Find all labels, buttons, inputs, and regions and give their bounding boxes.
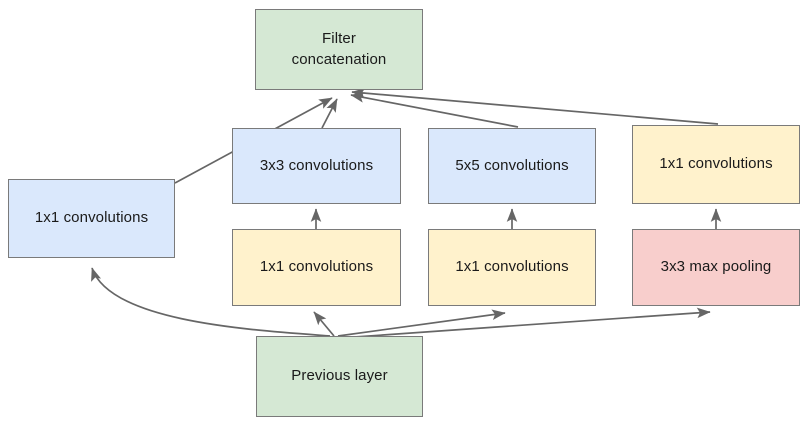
node-label: 1x1 convolutions xyxy=(256,257,377,277)
node-conv-1x1-left[interactable]: 1x1 convolutions xyxy=(8,179,175,258)
node-previous-layer[interactable]: Previous layer xyxy=(256,336,423,417)
node-filter-concatenation[interactable]: Filter concatenation xyxy=(255,9,423,90)
node-label: 3x3 convolutions xyxy=(256,156,377,176)
edge-5x5-to-concat xyxy=(351,95,518,127)
node-label: 3x3 max pooling xyxy=(657,257,776,277)
node-conv-1x1-before-5x5[interactable]: 1x1 convolutions xyxy=(428,229,596,306)
node-label: Filter concatenation xyxy=(288,29,391,70)
node-label: 1x1 convolutions xyxy=(451,257,572,277)
node-conv-5x5[interactable]: 5x5 convolutions xyxy=(428,128,596,204)
edge-previous-to-1x1-before-5x5 xyxy=(338,313,505,336)
node-label: 1x1 convolutions xyxy=(655,154,776,174)
node-conv-1x1-right[interactable]: 1x1 convolutions xyxy=(632,125,800,204)
node-conv-3x3[interactable]: 3x3 convolutions xyxy=(232,128,401,204)
node-label: Previous layer xyxy=(287,366,391,386)
inception-module-diagram: Filter concatenation 1x1 convolutions 3x… xyxy=(0,0,812,427)
edge-previous-to-1x1-before-3x3 xyxy=(314,312,334,336)
edge-1x1-right-to-concat xyxy=(352,92,718,124)
edge-3x3-to-concat xyxy=(322,99,337,128)
node-conv-1x1-before-3x3[interactable]: 1x1 convolutions xyxy=(232,229,401,306)
node-maxpool-3x3[interactable]: 3x3 max pooling xyxy=(632,229,800,306)
node-label: 5x5 convolutions xyxy=(451,156,572,176)
edge-previous-to-maxpool xyxy=(340,312,710,338)
node-label: 1x1 convolutions xyxy=(31,208,152,228)
